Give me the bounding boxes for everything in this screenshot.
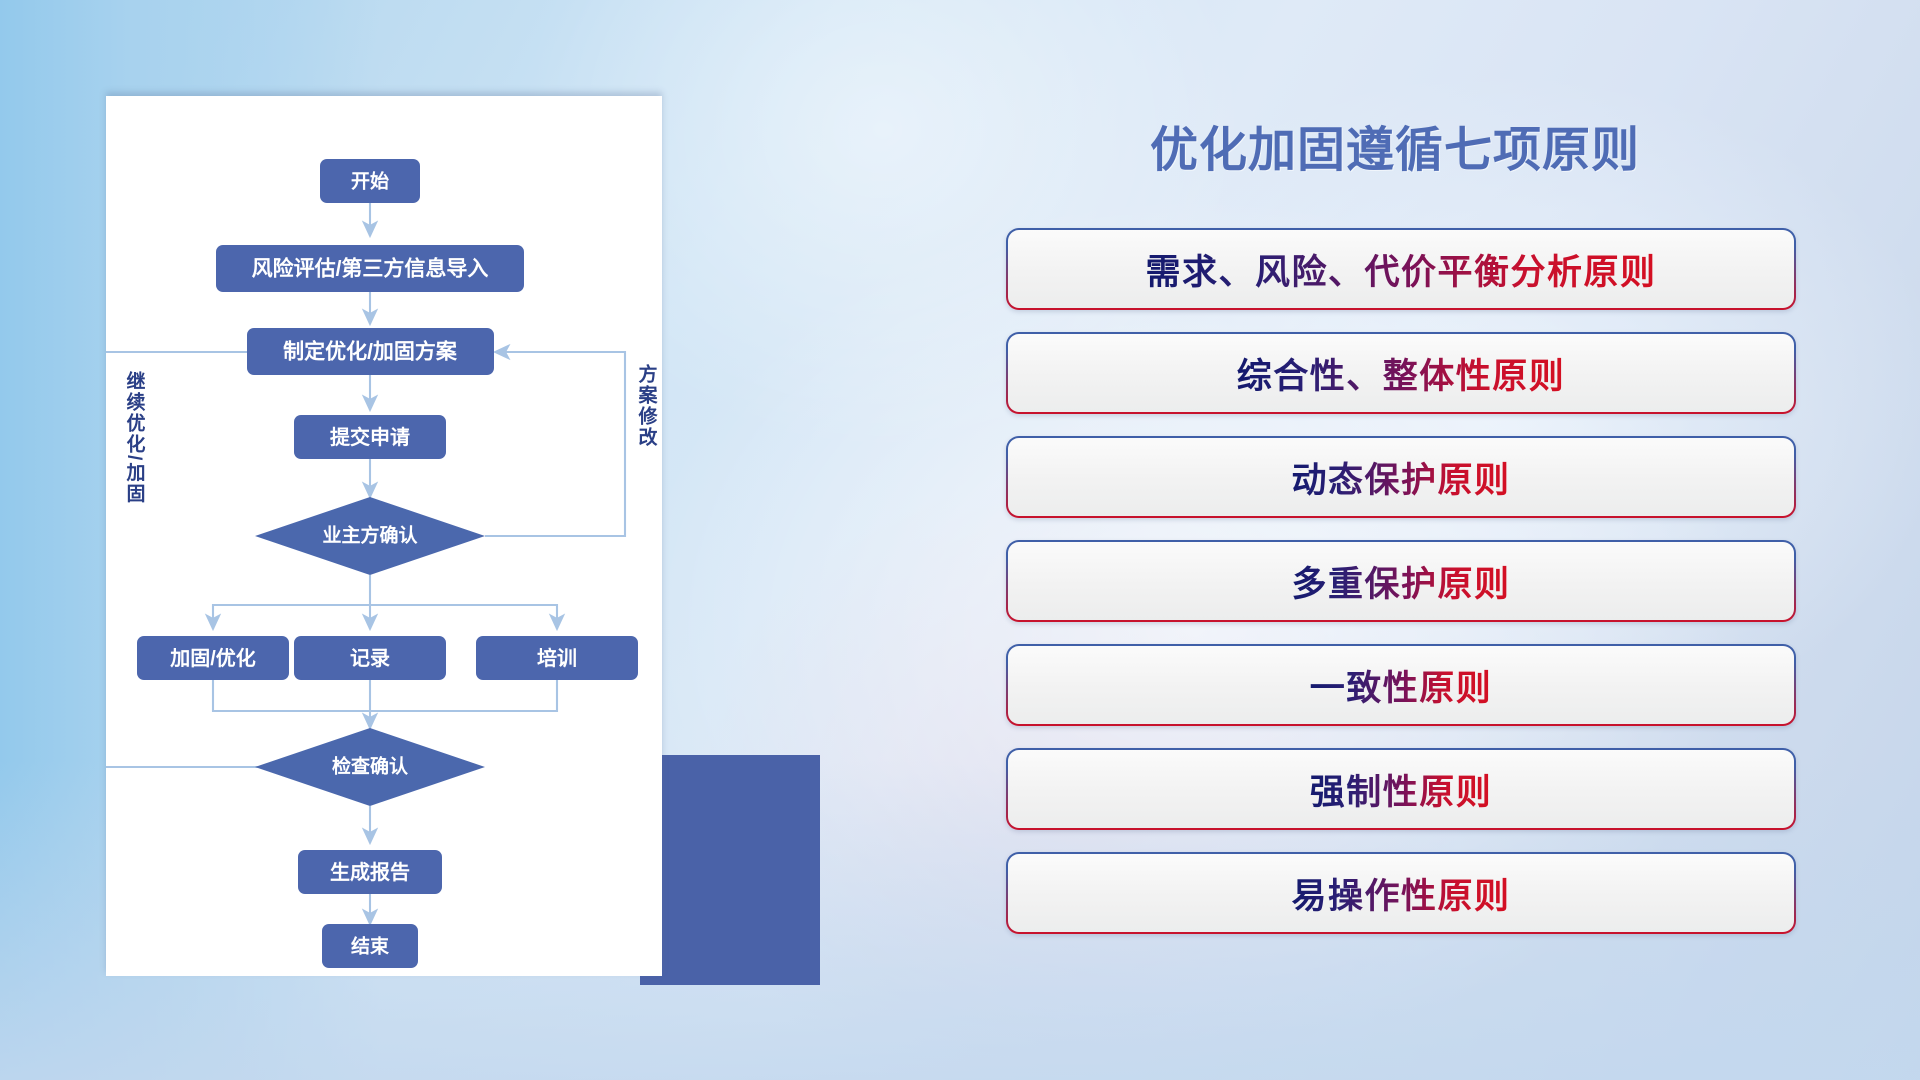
- principles-panel: 优化加固遵循七项原则 需求、风险、代价平衡分析原则 综合性、整体性原则 动态保护…: [1000, 90, 1840, 1020]
- panel-title: 优化加固遵循七项原则: [1000, 110, 1840, 180]
- principle-label: 易操作性原则: [1291, 868, 1510, 919]
- flow-node-owner-confirm[interactable]: 业主方确认: [255, 497, 485, 575]
- flow-node-end-label: 结束: [351, 935, 390, 958]
- principle-list: 需求、风险、代价平衡分析原则 综合性、整体性原则 动态保护原则 多重保护原则 一…: [1000, 228, 1840, 934]
- flow-node-generate-report[interactable]: 生成报告: [298, 850, 442, 894]
- flow-node-reinforce-label: 加固/优化: [169, 646, 256, 670]
- principle-item-body: 动态保护原则: [1008, 438, 1794, 516]
- flow-node-owner-confirm-label: 业主方确认: [322, 524, 417, 547]
- flow-node-record[interactable]: 记录: [294, 636, 446, 680]
- flow-node-check-confirm-label: 检查确认: [332, 755, 408, 778]
- flow-node-submit[interactable]: 提交申请: [294, 415, 446, 459]
- principle-item[interactable]: 动态保护原则: [1006, 436, 1796, 518]
- principle-label: 需求、风险、代价平衡分析原则: [1145, 244, 1656, 295]
- principle-item[interactable]: 综合性、整体性原则: [1006, 332, 1796, 414]
- principle-item-body: 强制性原则: [1008, 750, 1794, 828]
- flow-node-training[interactable]: 培训: [476, 636, 638, 680]
- flow-node-risk-assessment-label: 风险评估/第三方信息导入: [252, 257, 489, 281]
- flow-node-reinforce[interactable]: 加固/优化: [137, 636, 289, 680]
- principle-item[interactable]: 易操作性原则: [1006, 852, 1796, 934]
- principle-item[interactable]: 一致性原则: [1006, 644, 1796, 726]
- principle-item[interactable]: 强制性原则: [1006, 748, 1796, 830]
- principle-item-body: 多重保护原则: [1008, 542, 1794, 620]
- flow-node-start[interactable]: 开始: [320, 159, 420, 203]
- flow-node-record-label: 记录: [350, 647, 390, 670]
- principle-label: 综合性、整体性原则: [1237, 348, 1566, 399]
- edge-label-plan-revision: 方案修改: [636, 363, 659, 448]
- connector-owner-revise-loop: [485, 352, 625, 536]
- principle-item-body: 综合性、整体性原则: [1008, 334, 1794, 412]
- principle-item[interactable]: 需求、风险、代价平衡分析原则: [1006, 228, 1796, 310]
- flow-node-submit-label: 提交申请: [330, 425, 410, 449]
- principle-label: 一致性原则: [1310, 660, 1493, 711]
- connector-owner-to-parallel: [213, 575, 557, 629]
- flow-node-start-label: 开始: [351, 170, 389, 193]
- edge-label-continue-optimize: 继续优化/加固: [124, 370, 147, 505]
- connector-parallel-to-check: [213, 680, 557, 728]
- principle-label: 动态保护原则: [1291, 452, 1510, 503]
- flow-node-end[interactable]: 结束: [322, 924, 418, 968]
- flow-node-generate-report-label: 生成报告: [330, 860, 410, 884]
- decorative-blue-rectangle: [640, 755, 820, 985]
- flowchart-card: 开始 风险评估/第三方信息导入 制定优化/加固方案 提交申请 业主方确认 加固/…: [106, 96, 662, 976]
- principle-label: 多重保护原则: [1291, 556, 1510, 607]
- principle-label: 强制性原则: [1310, 764, 1493, 815]
- principle-item[interactable]: 多重保护原则: [1006, 540, 1796, 622]
- flow-node-training-label: 培训: [537, 646, 577, 670]
- flow-node-risk-assessment[interactable]: 风险评估/第三方信息导入: [216, 245, 524, 292]
- principle-item-body: 易操作性原则: [1008, 854, 1794, 932]
- flow-node-plan[interactable]: 制定优化/加固方案: [247, 328, 494, 375]
- principle-item-body: 一致性原则: [1008, 646, 1794, 724]
- flow-node-check-confirm[interactable]: 检查确认: [255, 728, 485, 806]
- flow-node-plan-label: 制定优化/加固方案: [283, 340, 458, 364]
- flowchart-diagram: 开始 风险评估/第三方信息导入 制定优化/加固方案 提交申请 业主方确认 加固/…: [106, 96, 662, 976]
- principle-item-body: 需求、风险、代价平衡分析原则: [1008, 230, 1794, 308]
